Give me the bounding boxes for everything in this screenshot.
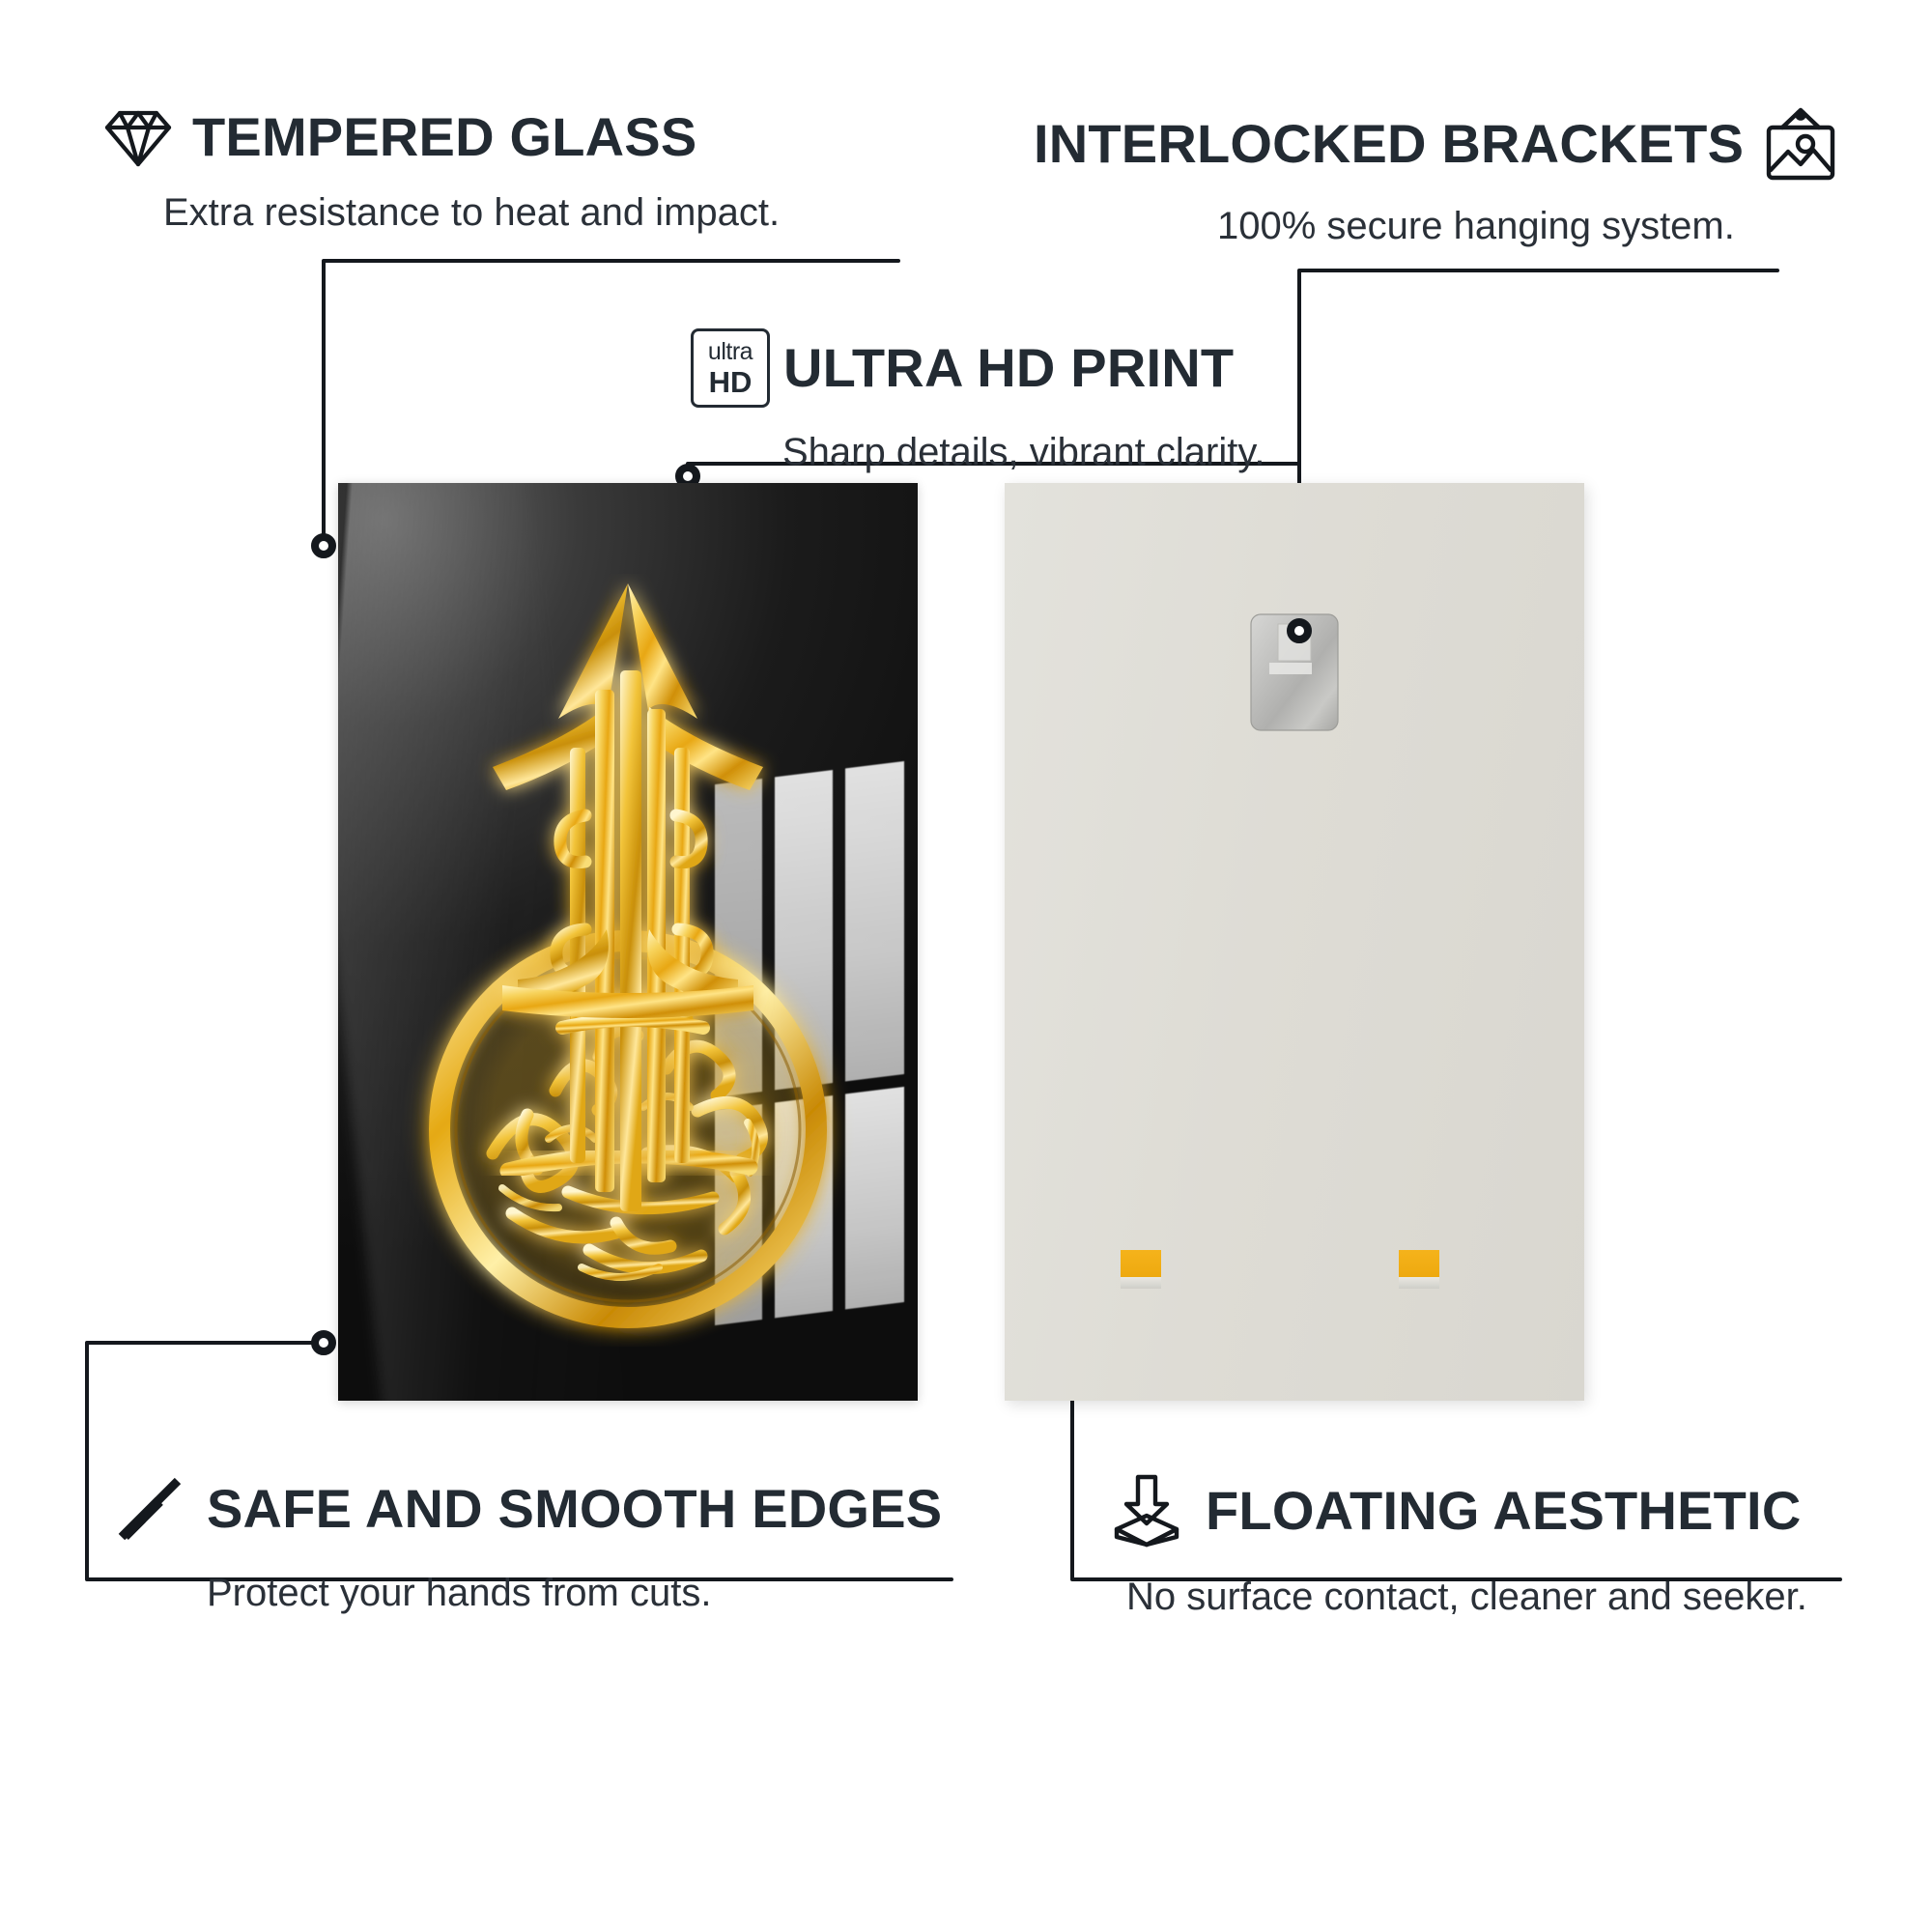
foam-pad-right <box>1399 1250 1439 1289</box>
feature-subtitle: 100% secure hanging system. <box>1217 207 1840 245</box>
ultra-hd-badge-icon: ultra HD <box>691 328 770 408</box>
connector-dot-safe-edges <box>315 1334 332 1351</box>
feature-title: FLOATING AESTHETIC <box>1206 1484 1801 1538</box>
beveled-corner-stripes-icon <box>114 1473 185 1545</box>
feature-title: INTERLOCKED BRACKETS <box>1034 117 1744 171</box>
feature-floating-aesthetic: FLOATING AESTHETIC No surface contact, c… <box>1109 1473 1807 1616</box>
feature-title: TEMPERED GLASS <box>192 110 696 164</box>
ultra-hd-badge-line1: ultra <box>708 340 753 364</box>
feature-subtitle: Protect your hands from cuts. <box>207 1574 942 1612</box>
glass-art-panel-front <box>338 483 918 1401</box>
arrow-onto-platform-icon <box>1109 1473 1184 1548</box>
feature-title: SAFE AND SMOOTH EDGES <box>207 1482 942 1536</box>
feature-subtitle: Sharp details, vibrant clarity. <box>782 433 1264 471</box>
diamond-icon <box>101 106 175 168</box>
feature-interlocked-brackets: INTERLOCKED BRACKETS 100% secure hanging… <box>1034 106 1840 245</box>
feature-tempered-glass: TEMPERED GLASS Extra resistance to heat … <box>101 106 780 232</box>
feature-safe-smooth-edges: SAFE AND SMOOTH EDGES Protect your hands… <box>114 1473 942 1612</box>
connector-dot-tempered-glass <box>315 537 332 554</box>
hanging-nail-icon <box>1287 618 1312 643</box>
hanging-picture-frame-icon <box>1761 106 1840 182</box>
feature-subtitle: Extra resistance to heat and impact. <box>163 193 780 232</box>
feature-ultra-hd-print: ultra HD ULTRA HD PRINT Sharp details, v… <box>691 328 1264 471</box>
feature-subtitle: No surface contact, cleaner and seeker. <box>1126 1577 1807 1616</box>
foam-pad-left <box>1121 1250 1161 1289</box>
gold-islamic-calligraphy-artwork <box>357 574 898 1347</box>
callout-connector-lines <box>0 0 1932 1932</box>
ultra-hd-badge-line2: HD <box>709 367 753 397</box>
feature-title: ULTRA HD PRINT <box>783 341 1234 395</box>
